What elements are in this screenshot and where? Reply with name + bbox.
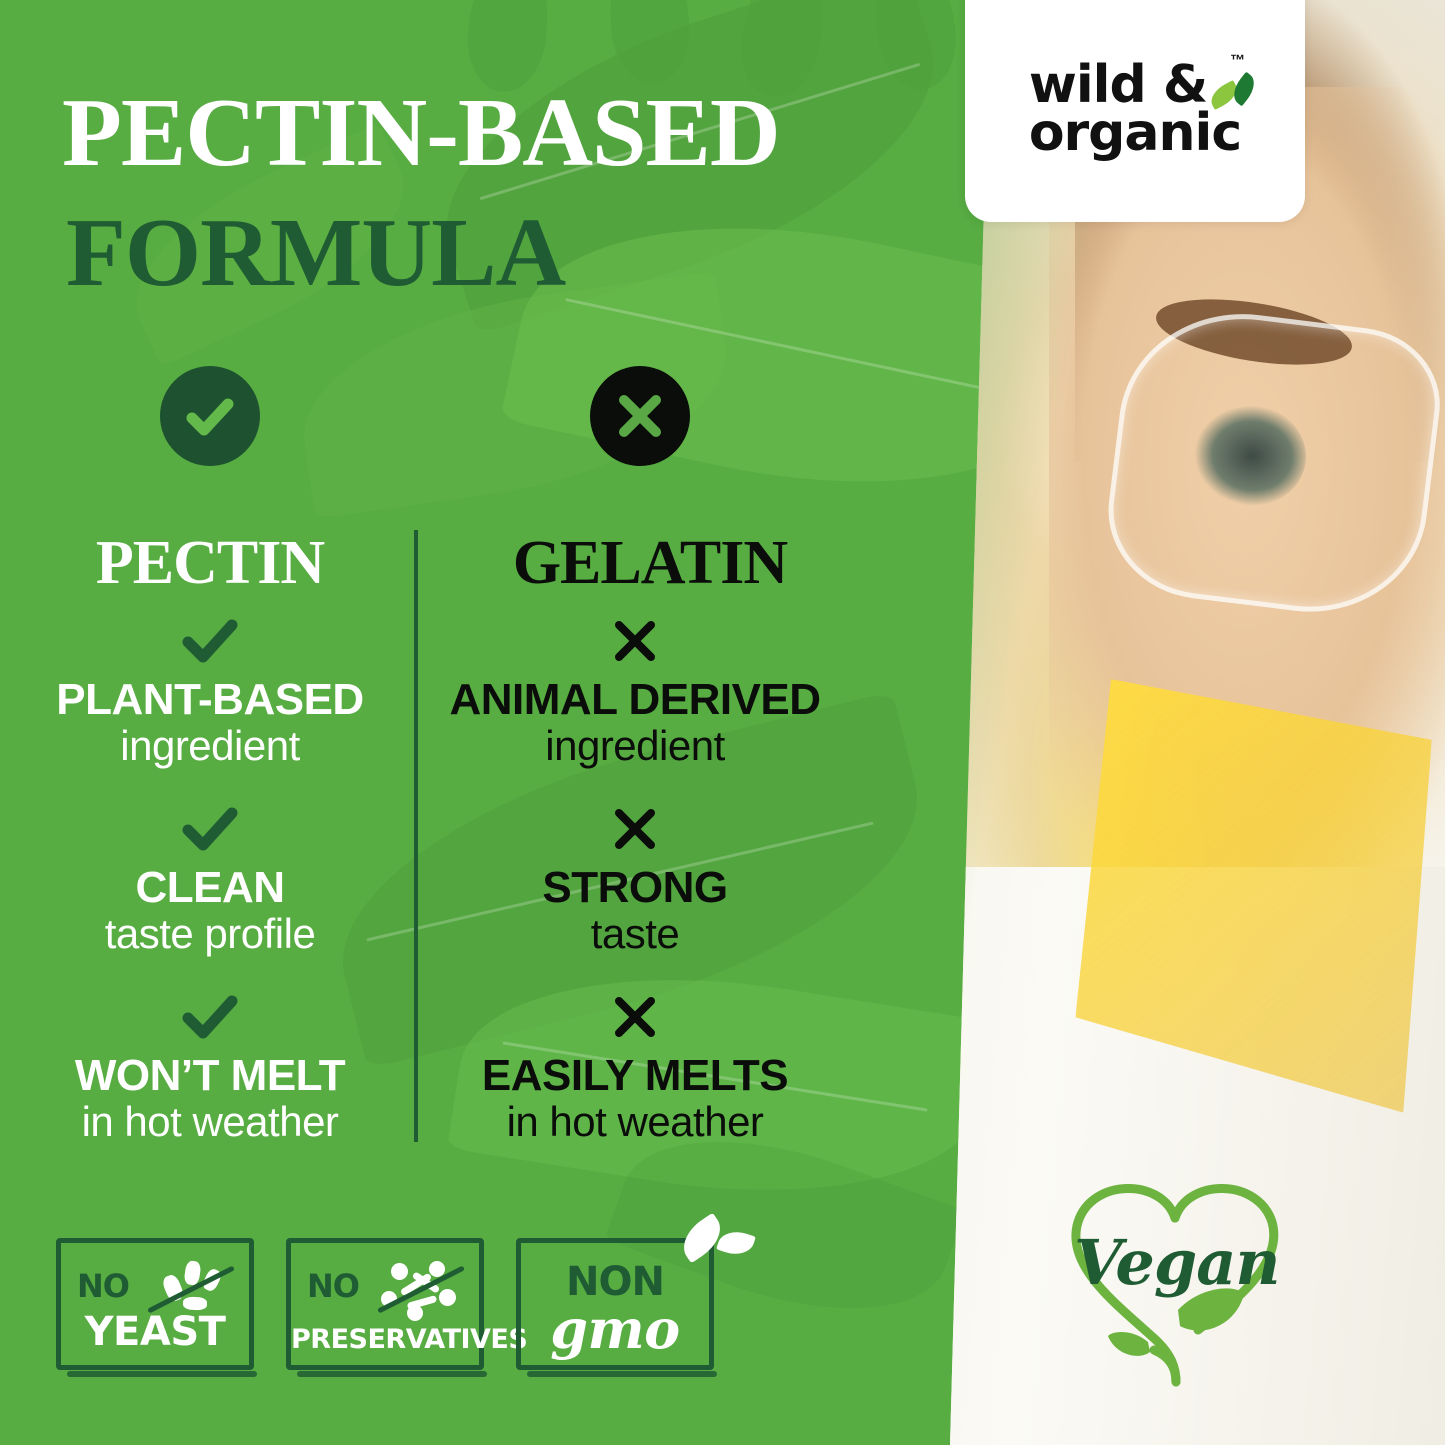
cross-circle-icon <box>590 366 690 466</box>
list-item: ANIMAL DERIVED ingredient <box>440 616 830 768</box>
badge-word: gmo <box>521 1297 709 1361</box>
headline-line-1: PECTIN-BASED <box>62 84 780 182</box>
badge-non-gmo: NON gmo <box>516 1238 714 1370</box>
badge-prefix: NO <box>77 1267 129 1305</box>
claim-badge-row: NO YEAST NO PRESE <box>56 1238 714 1370</box>
badge-no-yeast: NO YEAST <box>56 1238 254 1370</box>
list-item: CLEAN taste profile <box>20 804 400 956</box>
list-item-subtitle: ingredient <box>440 723 830 768</box>
list-item-subtitle: taste profile <box>20 911 400 956</box>
vegan-seal: Vegan <box>1030 1160 1320 1420</box>
brand-logo-card: wild & organic ™ <box>965 0 1305 222</box>
list-item: EASILY MELTS in hot weather <box>440 992 830 1144</box>
column-divider <box>414 530 418 1142</box>
trademark-symbol: ™ <box>1230 52 1245 69</box>
cross-icon <box>440 992 830 1054</box>
check-icon <box>20 992 400 1054</box>
badge-prefix: NO <box>307 1267 359 1305</box>
list-item: STRONG taste <box>440 804 830 956</box>
pectin-benefit-list: PLANT-BASED ingredient CLEAN taste profi… <box>20 616 400 1181</box>
cross-icon <box>440 804 830 866</box>
list-item-subtitle: taste <box>440 911 830 956</box>
badge-no-preservatives: NO PRESERVATIVES <box>286 1238 484 1370</box>
list-item-subtitle: in hot weather <box>20 1099 400 1144</box>
list-item-title: ANIMAL DERIVED <box>440 678 830 723</box>
column-title-pectin: PECTIN <box>40 528 380 599</box>
gelatin-drawback-list: ANIMAL DERIVED ingredient STRONG taste E… <box>440 616 830 1181</box>
column-title-gelatin: GELATIN <box>450 528 850 599</box>
molecule-crossed-icon <box>377 1257 461 1323</box>
poster-canvas: wild & organic ™ PECTIN-BASED FORMULA PE… <box>0 0 1445 1445</box>
headline-line-2: FORMULA <box>66 204 780 302</box>
list-item-subtitle: in hot weather <box>440 1099 830 1144</box>
list-item-title: PLANT-BASED <box>20 678 400 723</box>
badge-word: PRESERVATIVES <box>291 1324 479 1355</box>
check-icon <box>20 804 400 866</box>
badge-word: YEAST <box>61 1309 249 1355</box>
list-item-title: EASILY MELTS <box>440 1054 830 1099</box>
headline-block: PECTIN-BASED FORMULA <box>62 84 780 302</box>
list-item-title: WON’T MELT <box>20 1054 400 1099</box>
check-icon <box>20 616 400 678</box>
list-item: PLANT-BASED ingredient <box>20 616 400 768</box>
list-item-subtitle: ingredient <box>20 723 400 768</box>
list-item-title: STRONG <box>440 866 830 911</box>
vegan-label: Vegan <box>1074 1226 1274 1299</box>
logo-text-line2: organic <box>1029 110 1241 158</box>
cross-icon <box>440 616 830 678</box>
list-item: WON’T MELT in hot weather <box>20 992 400 1144</box>
check-circle-icon <box>160 366 260 466</box>
list-item-title: CLEAN <box>20 866 400 911</box>
